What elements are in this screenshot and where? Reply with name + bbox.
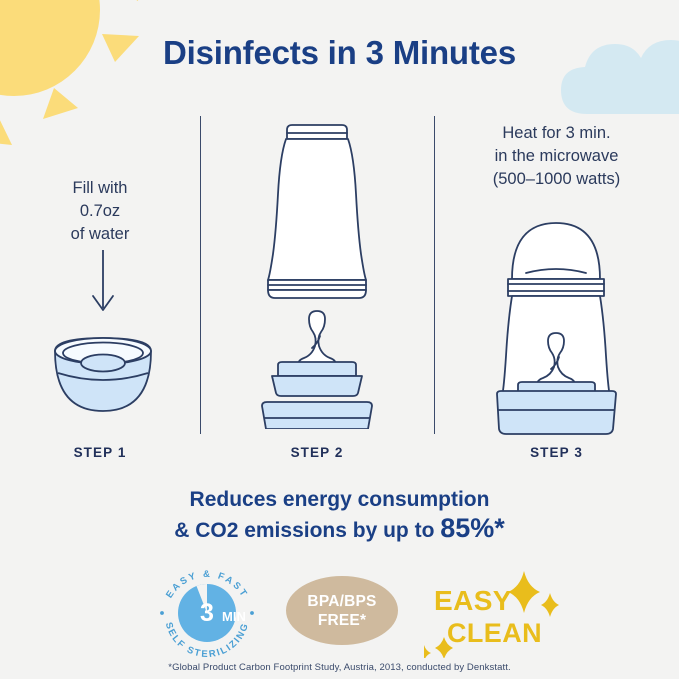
eco-claim-line-2-prefix: & CO2 emissions by up to bbox=[174, 519, 440, 542]
page-title: Disinfects in 3 Minutes bbox=[0, 34, 679, 72]
self-sterilizing-badge: 3 MIN EASY & FAST SELF STERILIZING bbox=[152, 563, 262, 658]
badge-row: 3 MIN EASY & FAST SELF STERILIZING BPA/B… bbox=[0, 563, 679, 658]
step-1-caption-line-3: of water bbox=[0, 223, 200, 246]
steps-section: Fill with 0.7oz of water bbox=[0, 110, 679, 460]
step-1-label: STEP 1 bbox=[0, 445, 200, 460]
step-3-illustration bbox=[434, 191, 679, 441]
step-2-label: STEP 2 bbox=[200, 445, 434, 460]
step-2-illustration bbox=[200, 114, 434, 429]
step-2-column: STEP 2 bbox=[200, 110, 434, 460]
step-3-column: Heat for 3 min. in the microwave (500–10… bbox=[434, 110, 679, 460]
eco-claim: Reduces energy consumption & CO2 emissio… bbox=[0, 485, 679, 545]
eco-claim-line-1: Reduces energy consumption bbox=[0, 485, 679, 514]
step-1-illustration bbox=[0, 246, 200, 446]
easy-clean-text: EASY CLEAN bbox=[434, 587, 542, 647]
seal-number: 3 bbox=[200, 599, 214, 627]
seal-dot-left bbox=[160, 611, 164, 615]
step-3-caption-line-3: (500–1000 watts) bbox=[434, 168, 679, 191]
step-3-caption-line-2: in the microwave bbox=[434, 145, 679, 168]
eco-claim-line-2: & CO2 emissions by up to 85%* bbox=[0, 514, 679, 545]
step-1-caption-line-1: Fill with bbox=[0, 177, 200, 200]
step-1-caption-line-2: 0.7oz bbox=[0, 200, 200, 223]
easy-clean-line-1: EASY bbox=[434, 587, 542, 615]
eco-claim-percentage: 85%* bbox=[440, 513, 505, 543]
bpa-bps-free-badge: BPA/BPS FREE* bbox=[286, 563, 404, 658]
step-1-column: Fill with 0.7oz of water bbox=[0, 110, 200, 460]
step-3-label: STEP 3 bbox=[434, 445, 679, 460]
down-arrow-icon bbox=[93, 250, 113, 310]
step-1-caption: Fill with 0.7oz of water bbox=[0, 177, 200, 246]
infographic-poster: Disinfects in 3 Minutes Fill with 0.7oz … bbox=[0, 0, 679, 679]
easy-clean-badge: EASY CLEAN bbox=[424, 563, 564, 658]
bpa-line-1: BPA/BPS bbox=[307, 592, 376, 611]
footnote: *Global Product Carbon Footprint Study, … bbox=[0, 662, 679, 673]
bpa-ellipse: BPA/BPS FREE* bbox=[286, 576, 398, 645]
easy-clean-line-2: CLEAN bbox=[447, 620, 542, 647]
bpa-line-2: FREE* bbox=[318, 611, 366, 630]
seal-dot-right bbox=[250, 611, 254, 615]
step-3-caption: Heat for 3 min. in the microwave (500–10… bbox=[434, 122, 679, 191]
step-3-caption-line-1: Heat for 3 min. bbox=[434, 122, 679, 145]
